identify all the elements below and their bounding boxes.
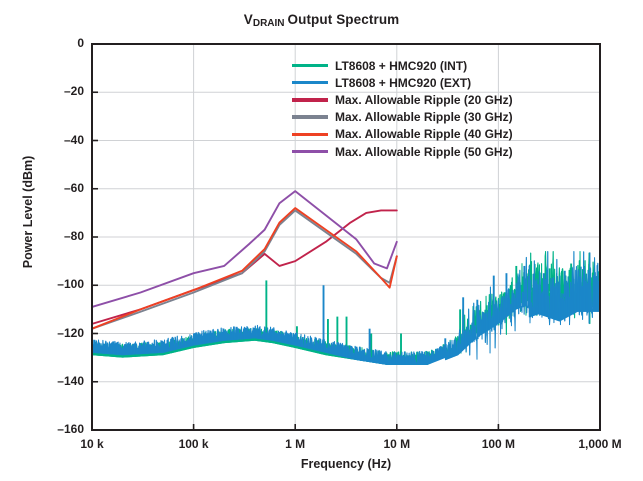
x-tick-label: 1,000 M [560,437,640,451]
chart-figure: VDRAINOutput Spectrum Power Level (dBm) … [0,0,643,481]
x-tick-label: 10 M [357,437,437,451]
legend-item[interactable]: Max. Allowable Ripple (50 GHz) [292,143,592,160]
y-tick-label: –140 [24,374,84,388]
legend-item[interactable]: Max. Allowable Ripple (30 GHz) [292,109,592,126]
x-tick-label: 100 M [458,437,538,451]
y-tick-label: –160 [24,422,84,436]
legend-item[interactable]: LT8608 + HMC920 (INT) [292,57,592,74]
legend-color-swatch [292,81,328,84]
y-tick-label: 0 [24,36,84,50]
legend-color-swatch [292,115,328,118]
x-tick-label: 100 k [154,437,234,451]
x-tick-label: 1 M [255,437,335,451]
y-tick-label: –100 [24,277,84,291]
series-trace [92,210,397,323]
legend-color-swatch [292,98,328,101]
y-tick-label: –120 [24,326,84,340]
legend-item[interactable]: LT8608 + HMC920 (EXT) [292,74,592,91]
legend-color-swatch [292,64,328,67]
y-tick-label: –40 [24,133,84,147]
y-tick-label: –80 [24,229,84,243]
legend-color-swatch [292,150,328,153]
series-trace [92,208,397,329]
legend-item-label: Max. Allowable Ripple (50 GHz) [335,146,513,158]
y-tick-label: –60 [24,181,84,195]
x-tick-label: 10 k [52,437,132,451]
legend-item-label: LT8608 + HMC920 (EXT) [335,77,471,89]
chart-legend: LT8608 + HMC920 (INT)LT8608 + HMC920 (EX… [292,57,592,160]
legend-item-label: LT8608 + HMC920 (INT) [335,60,467,72]
legend-item[interactable]: Max. Allowable Ripple (40 GHz) [292,126,592,143]
legend-item-label: Max. Allowable Ripple (40 GHz) [335,128,513,140]
series-trace [92,251,600,364]
legend-item[interactable]: Max. Allowable Ripple (20 GHz) [292,91,592,108]
legend-color-swatch [292,133,328,136]
legend-item-label: Max. Allowable Ripple (30 GHz) [335,111,513,123]
y-tick-label: –20 [24,84,84,98]
legend-item-label: Max. Allowable Ripple (20 GHz) [335,94,513,106]
